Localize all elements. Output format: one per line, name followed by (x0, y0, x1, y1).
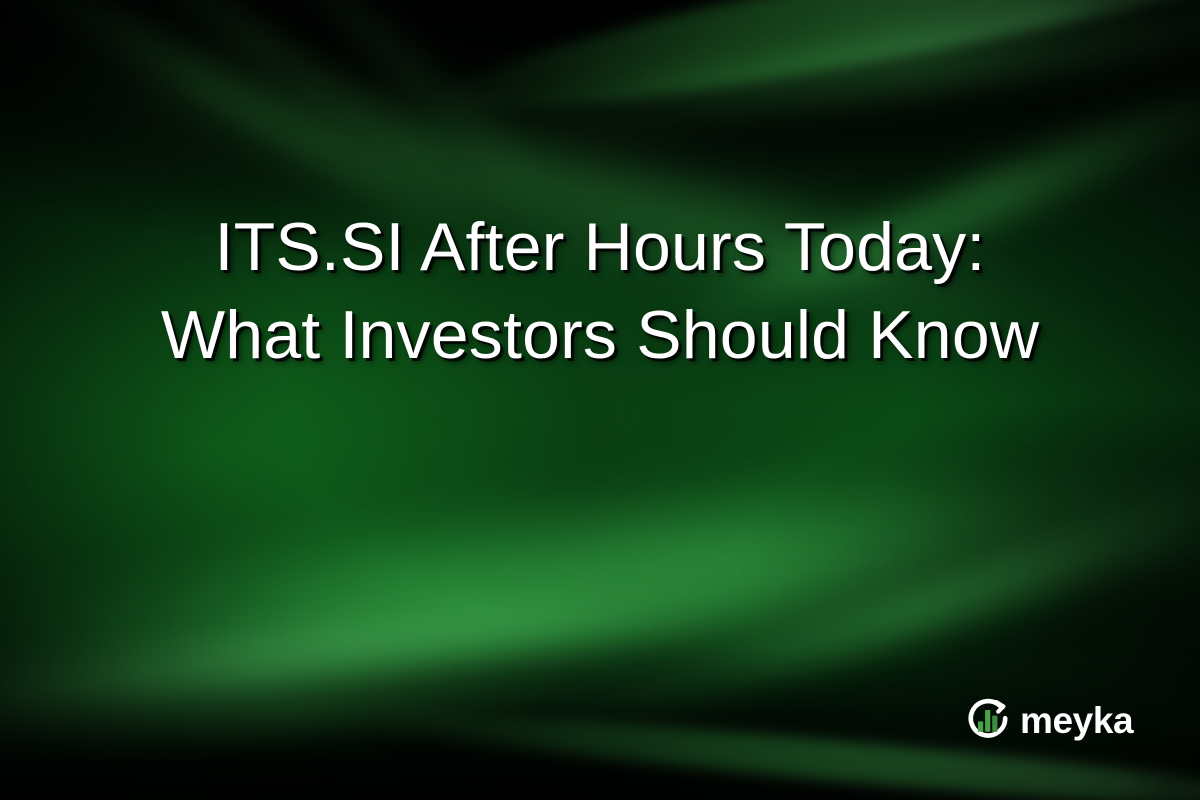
meyka-circular-chart-icon (963, 694, 1013, 744)
meyka-wordmark: meyka (1020, 702, 1133, 739)
share-card: ITS.SI After Hours Today: What Investors… (0, 0, 1200, 800)
headline-line-2: What Investors Should Know (0, 291, 1200, 379)
headline-line-1: ITS.SI After Hours Today: (0, 203, 1200, 291)
meyka-logo[interactable]: meyka (963, 694, 1133, 744)
headline: ITS.SI After Hours Today: What Investors… (0, 203, 1200, 379)
